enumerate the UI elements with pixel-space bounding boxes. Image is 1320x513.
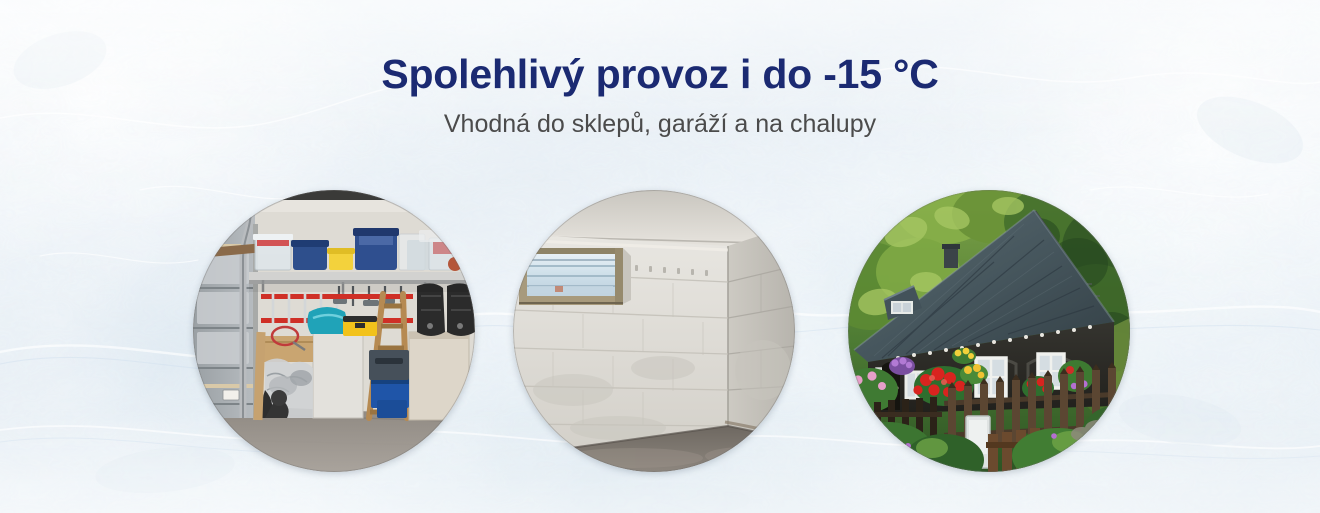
- banner-text-block: Spolehlivý provoz i do -15 °C Vhodná do …: [0, 0, 1320, 139]
- garage-photo: [193, 190, 475, 472]
- banner-headline: Spolehlivý provoz i do -15 °C: [0, 0, 1320, 97]
- cottage-photo: [848, 190, 1130, 472]
- banner-subheadline: Vhodná do sklepů, garáží a na chalupy: [0, 97, 1320, 139]
- cellar-photo: [513, 190, 795, 472]
- garage-photo-image: [193, 190, 475, 472]
- photo-row: [0, 190, 1320, 473]
- cellar-photo-image: [513, 190, 795, 472]
- promo-banner: Spolehlivý provoz i do -15 °C Vhodná do …: [0, 0, 1320, 513]
- cottage-photo-image: [848, 190, 1130, 472]
